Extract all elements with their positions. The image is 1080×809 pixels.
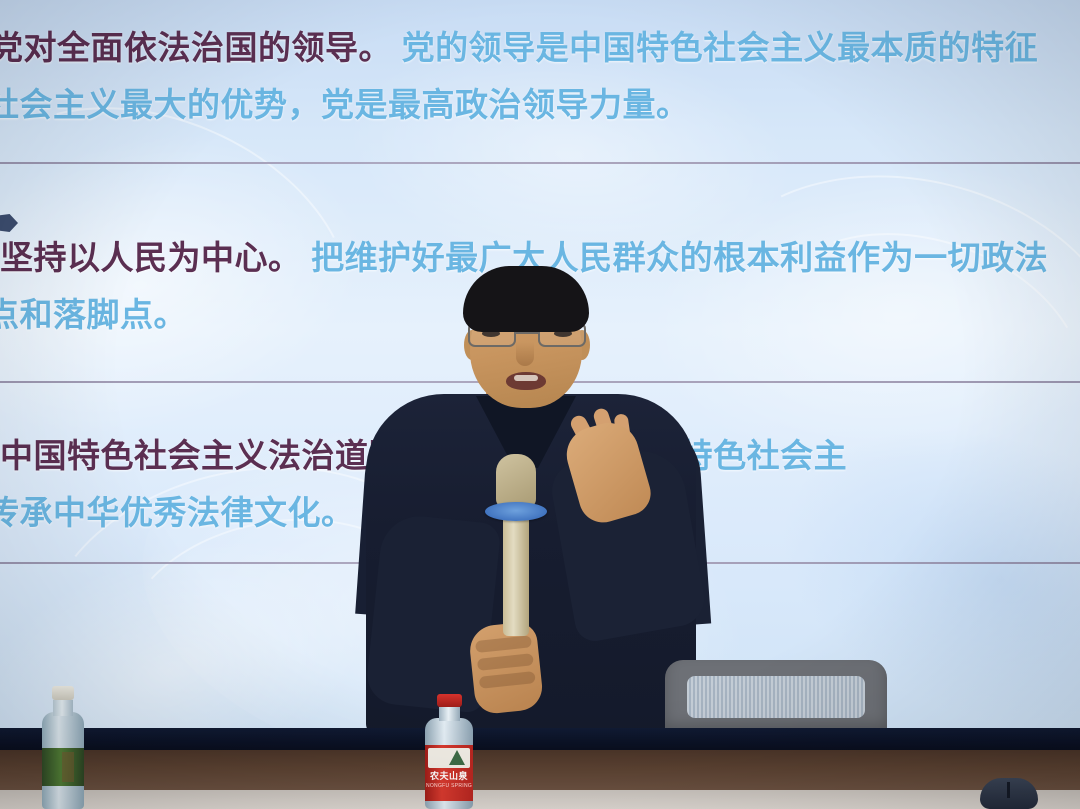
slide-block-1-lead: 党对全面依法治国的领导。 <box>0 29 392 66</box>
mesh-office-chair <box>665 660 887 733</box>
desk-wood-panel <box>0 750 1080 790</box>
diamond-bullet-icon <box>0 214 18 232</box>
water-bottle-red: 农夫山泉 NONGFU SPRING <box>425 694 473 809</box>
slide-block-2-body-line-2: 点和落脚点。 <box>0 296 187 333</box>
slide-block-1-body-line-2: 社会主义最大的优势，党是最高政治领导力量。 <box>0 86 690 123</box>
slide-block-1-line-1: 党对全面依法治国的领导。 党的领导是中国特色社会主义最本质的特征 <box>0 26 1080 70</box>
bottle-brand-name: 农夫山泉 <box>425 771 473 781</box>
microphone-ring <box>485 502 547 521</box>
microphone-head <box>496 454 536 508</box>
chair-mesh-panel <box>687 676 865 718</box>
bottle-neck <box>439 707 460 721</box>
computer-mouse <box>980 778 1038 809</box>
bottle-label <box>42 748 84 786</box>
slide-divider-1 <box>0 162 1080 164</box>
presentation-photo: 党对全面依法治国的领导。 党的领导是中国特色社会主义最本质的特征 社会主义最大的… <box>0 0 1080 809</box>
bottle-label: 农夫山泉 NONGFU SPRING <box>425 745 473 801</box>
bottle-brand-subtitle: NONGFU SPRING <box>425 783 473 789</box>
handheld-microphone <box>496 454 536 634</box>
microphone-body <box>503 514 529 636</box>
eyeglass-bridge <box>516 332 538 334</box>
bottle-neck <box>53 700 73 716</box>
slide-block-3-body-line-2: 传承中华优秀法律文化。 <box>0 494 355 531</box>
slide-block-1-body-line-1: 党的领导是中国特色社会主义最本质的特征 <box>402 29 1039 66</box>
slide-block-2-lead: 坚持以人民为中心。 <box>0 239 302 276</box>
bottle-cap <box>437 694 462 707</box>
speaker-mouth <box>506 372 546 390</box>
speaker-hair <box>463 266 589 332</box>
water-bottle-green <box>42 686 84 809</box>
desk-front-edge <box>0 728 1080 750</box>
speaker-nose <box>516 342 534 366</box>
slide-block-1: 党对全面依法治国的领导。 党的领导是中国特色社会主义最本质的特征 社会主义最大的… <box>0 26 1080 127</box>
slide-block-3-lead: 中国特色社会主义法治道路 <box>0 437 402 474</box>
desk-top-surface <box>0 790 1080 809</box>
mountain-peak-icon <box>449 750 465 765</box>
speaker-figure <box>366 268 696 733</box>
bottle-cap <box>52 686 74 700</box>
slide-block-1-line-2: 社会主义最大的优势，党是最高政治领导力量。 <box>0 83 1080 127</box>
